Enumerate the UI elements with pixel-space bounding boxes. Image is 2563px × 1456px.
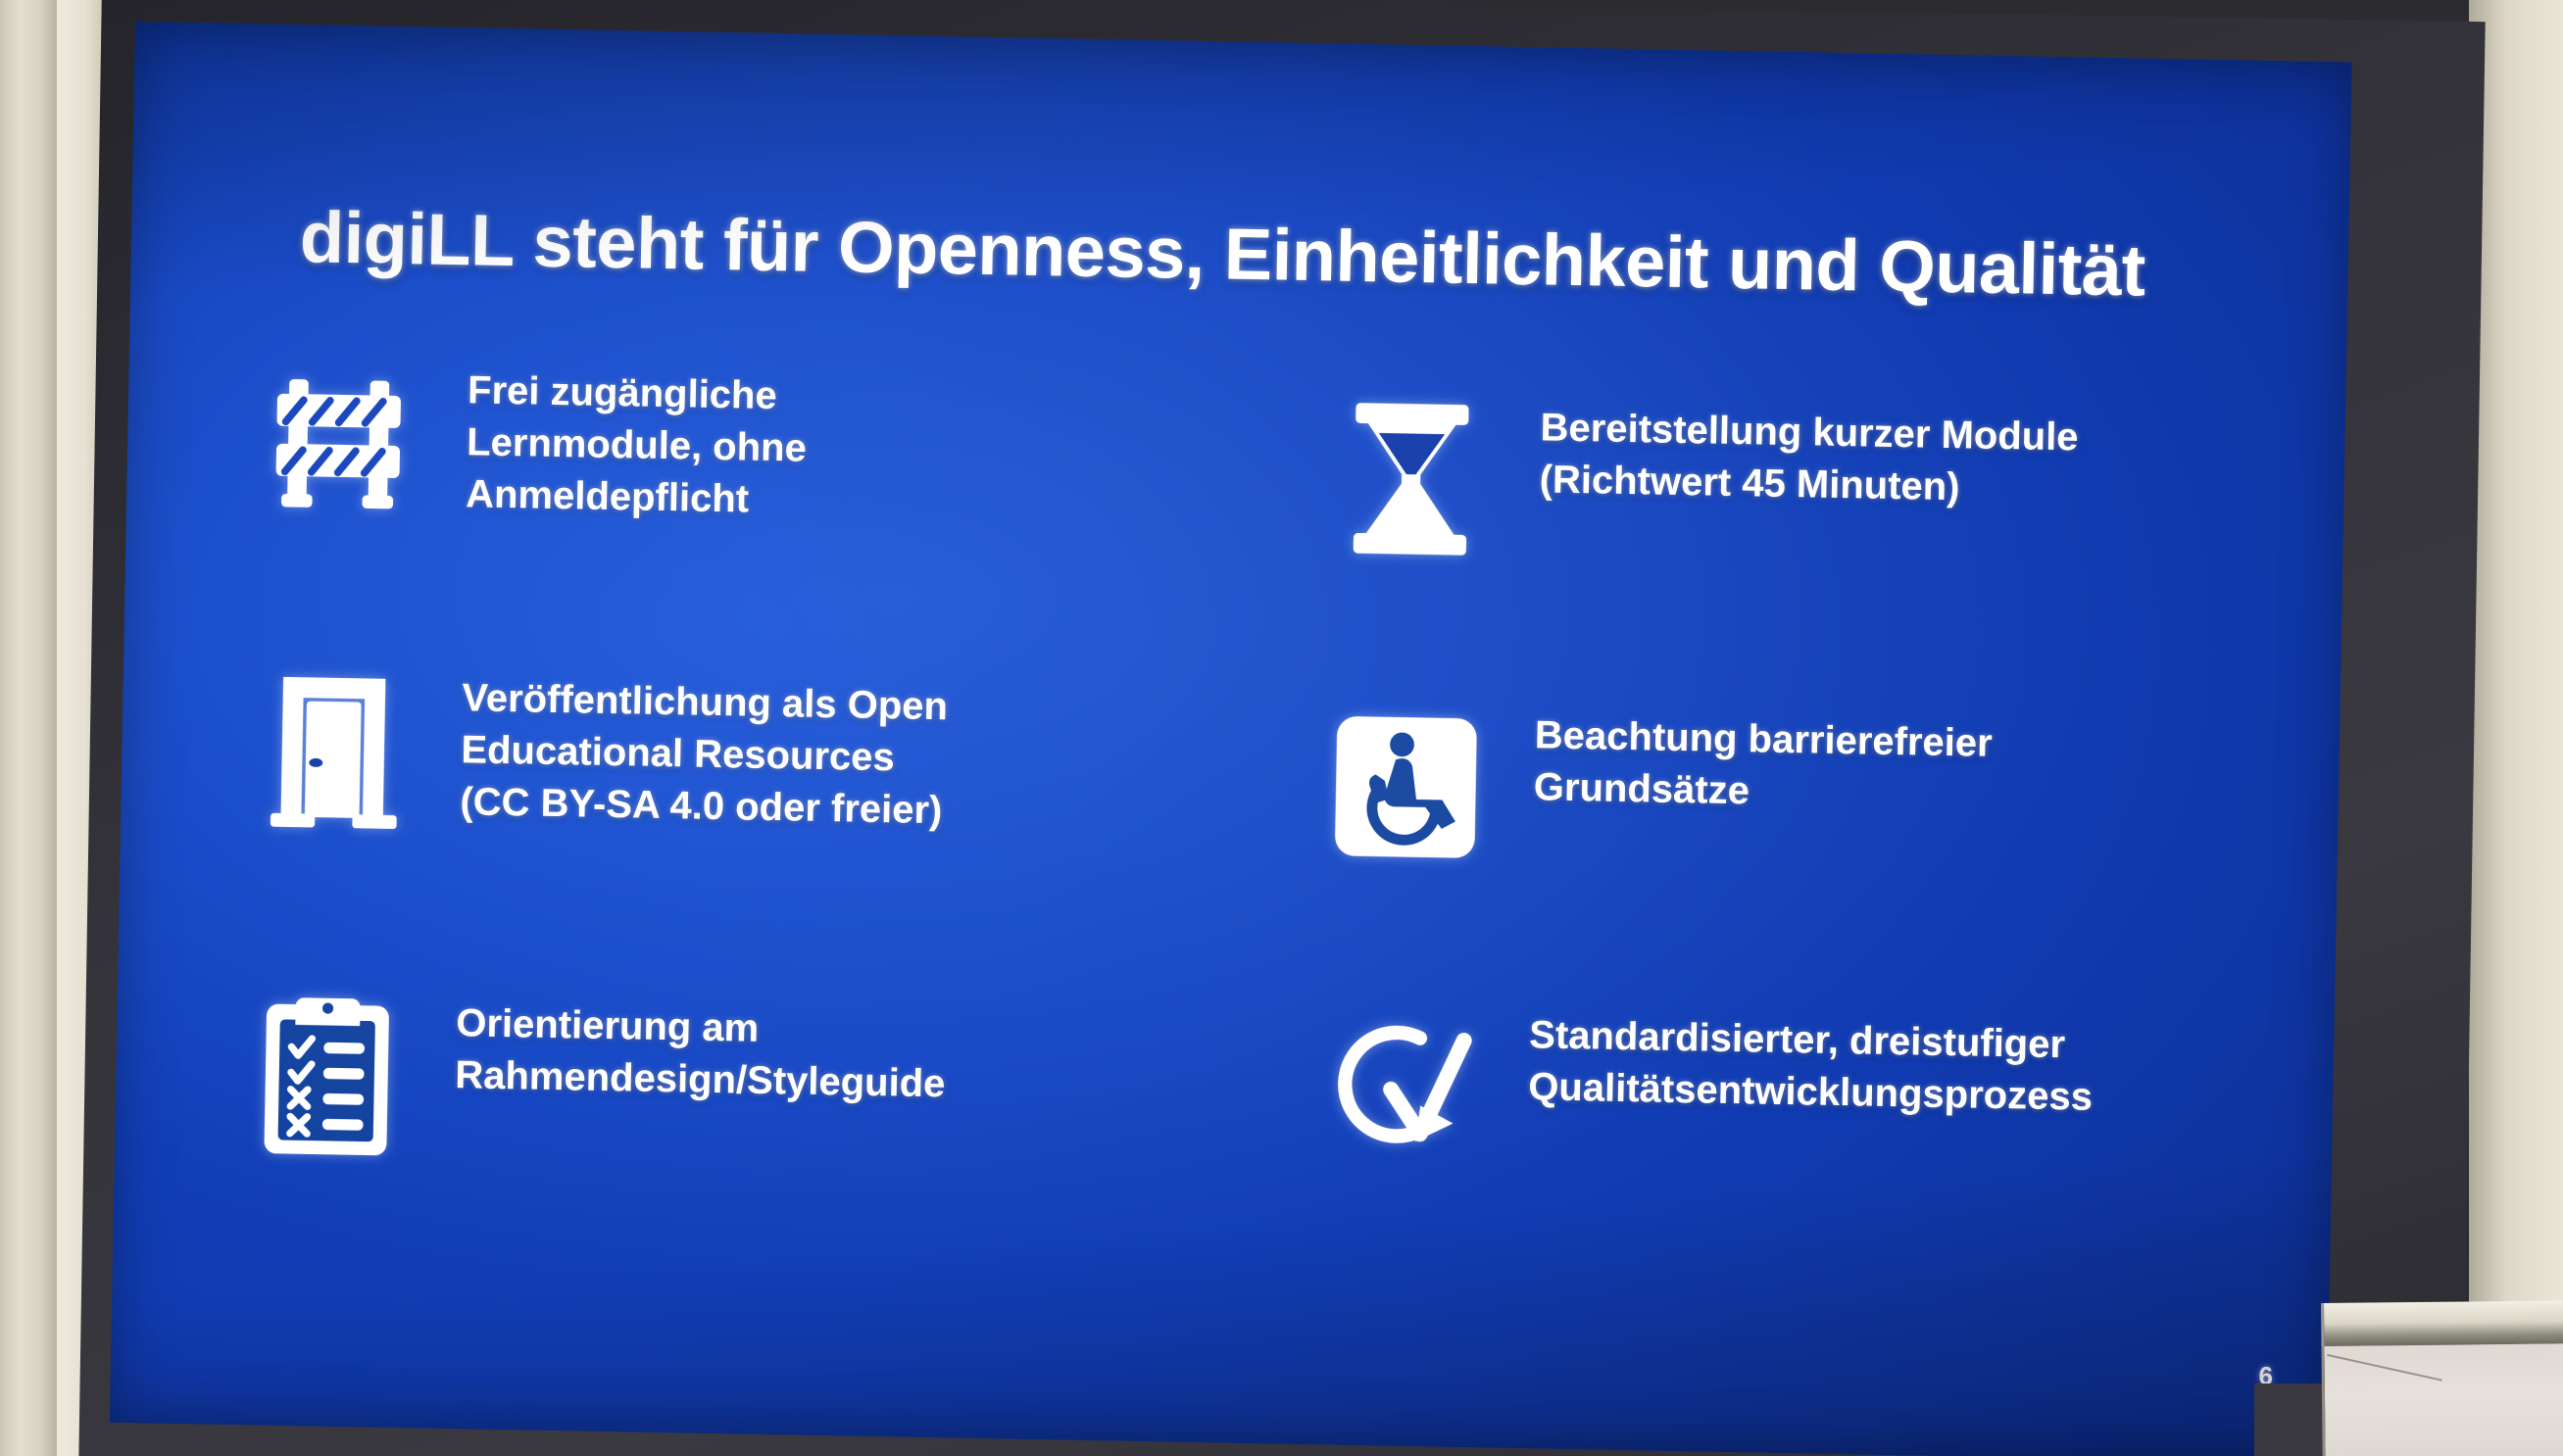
wall-left-strip bbox=[0, 0, 57, 1456]
feature-item-label: Orientierung am Rahmendesign/Styleguide bbox=[455, 984, 1064, 1113]
feature-item-bereitstellung-kurzer-module: Bereitstellung kurzer Module (Richtwert … bbox=[1257, 383, 2275, 588]
feature-item-frei-zugaengliche-lernmodule: Frei zugängliche Lernmodule, ohne Anmeld… bbox=[243, 347, 1261, 569]
feature-item-label: Standardisierter, dreistufiger Qualitäts… bbox=[1528, 995, 2196, 1126]
cycle-checkmark-icon bbox=[1306, 992, 1495, 1181]
feature-grid: Frei zugängliche Lernmodule, ohne Anmeld… bbox=[232, 347, 2276, 1203]
presentation-slide: digiLL steht für Openness, Einheitlichke… bbox=[110, 22, 2352, 1456]
feature-item-veroeffentlichung-oer: Veröffentlichung als Open Educational Re… bbox=[237, 655, 1256, 877]
feature-item-label: Beachtung barrierefreier Grundsätze bbox=[1533, 696, 2201, 826]
feature-item-barrierefreiheit: Beachtung barrierefreier Grundsätze bbox=[1252, 691, 2269, 896]
wall-right-strip bbox=[2469, 0, 2563, 1456]
hourglass-icon bbox=[1316, 384, 1505, 573]
feature-item-label: Frei zugängliche Lernmodule, ohne Anmeld… bbox=[466, 351, 1076, 532]
slide-title: digiLL steht für Openness, Einheitlichke… bbox=[299, 199, 2221, 311]
wheelchair-accessibility-icon bbox=[1310, 692, 1500, 881]
feature-item-rahmendesign-styleguide: Orientierung am Rahmendesign/Styleguide bbox=[232, 980, 1250, 1185]
road-barrier-icon bbox=[243, 347, 432, 536]
feature-item-label: Bereitstellung kurzer Module (Richtwert … bbox=[1539, 388, 2207, 518]
feature-item-label: Veröffentlichung als Open Educational Re… bbox=[460, 658, 1070, 840]
feature-item-qualitaetsprozess: Standardisierter, dreistufiger Qualitäts… bbox=[1246, 991, 2263, 1203]
flipchart-rail bbox=[2321, 1300, 2563, 1346]
clipboard-checklist-icon bbox=[232, 980, 421, 1169]
photo-of-projected-slide: digiLL steht für Openness, Einheitlichke… bbox=[0, 0, 2563, 1456]
flipchart-board bbox=[2321, 1300, 2563, 1456]
open-door-icon bbox=[238, 655, 427, 844]
